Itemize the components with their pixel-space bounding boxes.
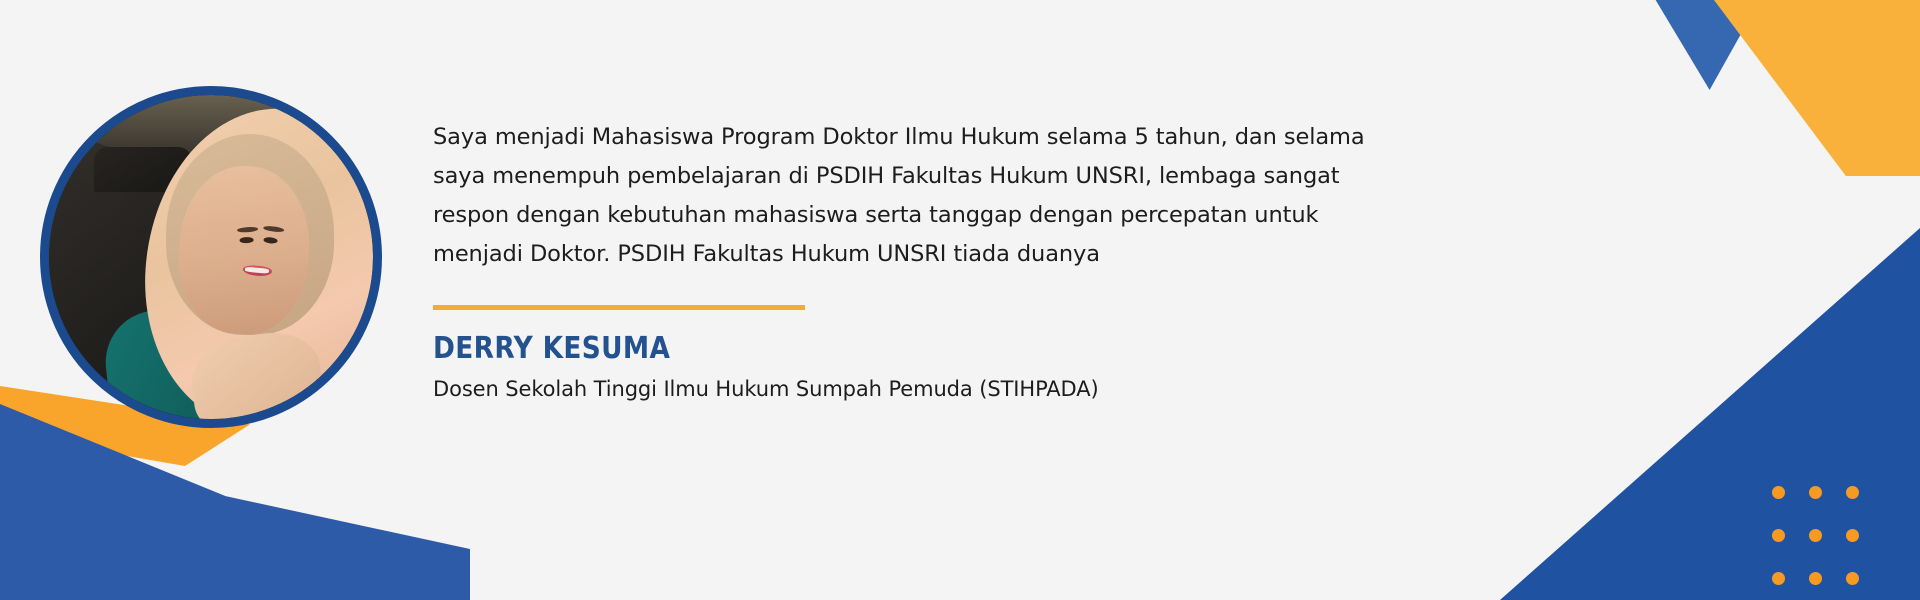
dot xyxy=(1772,529,1785,542)
dot xyxy=(1809,572,1822,585)
testimonial-content: Saya menjadi Mahasiswa Program Doktor Il… xyxy=(433,118,1393,401)
author-name: DERRY KESUMA xyxy=(433,331,1278,366)
dot xyxy=(1809,486,1822,499)
orange-dot-grid xyxy=(1772,486,1883,600)
author-role: Dosen Sekolah Tinggi Ilmu Hukum Sumpah P… xyxy=(433,377,1393,401)
testimonial-banner: Saya menjadi Mahasiswa Program Doktor Il… xyxy=(0,0,1920,600)
testimonial-quote: Saya menjadi Mahasiswa Program Doktor Il… xyxy=(433,118,1373,274)
photo-teeth xyxy=(244,268,268,275)
dot xyxy=(1772,572,1785,585)
avatar xyxy=(40,86,382,428)
dot xyxy=(1809,529,1822,542)
dot xyxy=(1772,486,1785,499)
dot xyxy=(1846,486,1859,499)
photo-eyebrow-left xyxy=(237,226,258,233)
photo-eye-right xyxy=(263,237,278,244)
dot xyxy=(1846,529,1859,542)
dot xyxy=(1846,572,1859,585)
top-right-orange-shape xyxy=(1714,0,1920,176)
photo-mouth xyxy=(242,265,271,278)
photo-eye-left xyxy=(239,237,253,243)
photo-eyebrow-right xyxy=(262,225,283,233)
orange-divider xyxy=(433,305,805,310)
avatar-photo xyxy=(49,95,373,419)
